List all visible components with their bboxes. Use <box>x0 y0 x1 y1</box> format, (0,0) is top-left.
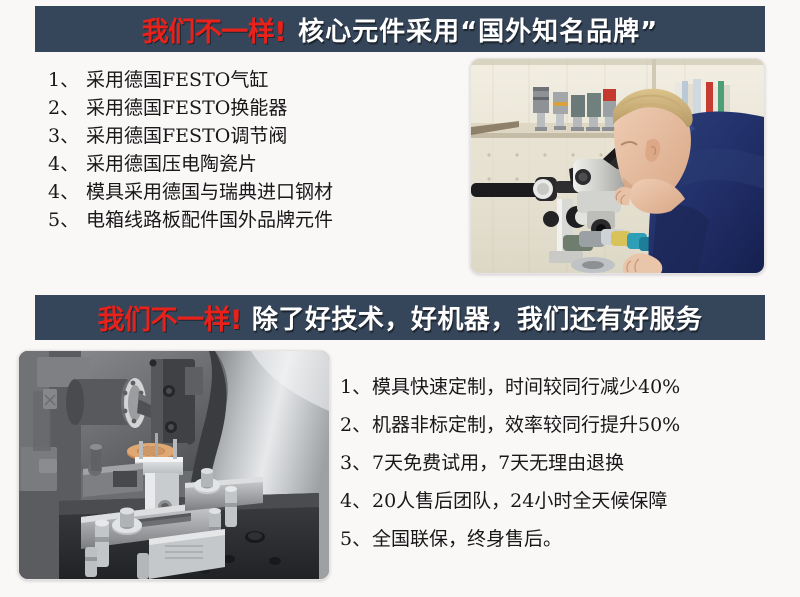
section-service-banner: 我们不一样! 除了好技术，好机器，我们还有好服务 <box>35 295 765 340</box>
core-components-list: 1、 采用德国FESTO气缸 2、 采用德国FESTO换能器 3、 采用德国FE… <box>48 66 333 234</box>
list-item-label: 模具快速定制，时间较同行减少40% <box>372 368 680 406</box>
list-item: 1、 采用德国FESTO气缸 <box>48 66 333 94</box>
list-item-number: 5、 <box>340 520 372 558</box>
list-item-label: 7天免费试用，7天无理由退换 <box>372 444 624 482</box>
list-item-number: 4、 <box>48 150 86 178</box>
list-item-label: 采用德国FESTO气缸 <box>86 66 268 94</box>
list-item-number: 1、 <box>340 368 372 406</box>
microscope-inspection-illustration <box>471 59 764 273</box>
list-item-label: 采用德国FESTO调节阀 <box>86 122 287 150</box>
list-item-number: 3、 <box>48 122 86 150</box>
list-item: 3、 7天免费试用，7天无理由退换 <box>340 444 680 482</box>
list-item: 5、 电箱线路板配件国外品牌元件 <box>48 206 333 234</box>
promo-page: 我们不一样! 核心元件采用“国外知名品牌” 1、 采用德国FESTO气缸 2、 … <box>0 0 800 597</box>
list-item-number: 2、 <box>48 94 86 122</box>
list-item-label: 全国联保，终身售后。 <box>372 520 562 558</box>
list-item: 4、 模具采用德国与瑞典进口钢材 <box>48 178 333 206</box>
list-item-label: 模具采用德国与瑞典进口钢材 <box>86 178 333 206</box>
list-item-number: 4、 <box>48 178 86 206</box>
banner-white-text: 除了好技术，好机器，我们还有好服务 <box>252 299 703 336</box>
microscope-inspection-photo <box>470 58 765 274</box>
list-item: 1、 模具快速定制，时间较同行减少40% <box>340 368 680 406</box>
service-list: 1、 模具快速定制，时间较同行减少40% 2、 机器非标定制，效率较同行提升50… <box>340 368 680 558</box>
list-item: 4、 20人售后团队，24小时全天候保障 <box>340 482 680 520</box>
list-item-label: 采用德国FESTO换能器 <box>86 94 287 122</box>
banner-red-text: 我们不一样! <box>142 10 286 49</box>
list-item-label: 机器非标定制，效率较同行提升50% <box>372 406 680 444</box>
list-item-number: 4、 <box>340 482 372 520</box>
list-item-label: 电箱线路板配件国外品牌元件 <box>86 206 333 234</box>
list-item: 4、 采用德国压电陶瓷片 <box>48 150 333 178</box>
list-item-number: 3、 <box>340 444 372 482</box>
precision-tooling-photo <box>18 350 330 580</box>
list-item: 3、 采用德国FESTO调节阀 <box>48 122 333 150</box>
list-item-number: 2、 <box>340 406 372 444</box>
precision-tooling-illustration <box>19 351 329 579</box>
list-item-number: 1、 <box>48 66 86 94</box>
banner-white-text: 核心元件采用“国外知名品牌” <box>298 11 658 48</box>
banner-red-text: 我们不一样! <box>98 298 242 337</box>
list-item: 5、 全国联保，终身售后。 <box>340 520 680 558</box>
list-item-number: 5、 <box>48 206 86 234</box>
list-item: 2、 机器非标定制，效率较同行提升50% <box>340 406 680 444</box>
list-item: 2、 采用德国FESTO换能器 <box>48 94 333 122</box>
list-item-label: 采用德国压电陶瓷片 <box>86 150 257 178</box>
section-core-banner: 我们不一样! 核心元件采用“国外知名品牌” <box>35 6 765 52</box>
list-item-label: 20人售后团队，24小时全天候保障 <box>372 482 667 520</box>
